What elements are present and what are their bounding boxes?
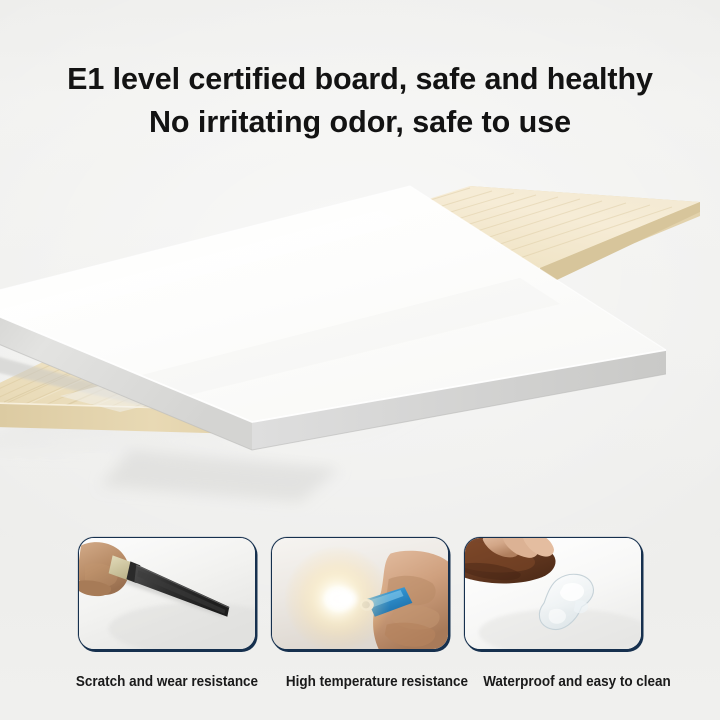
caption-scratch: Scratch and wear resistance (54, 672, 279, 692)
headline-line-1: E1 level certified board, safe and healt… (0, 58, 720, 101)
caption-waterproof: Waterproof and easy to clean (461, 672, 694, 692)
caption-heat: High temperature resistance (264, 672, 489, 692)
feature-panel-heat[interactable] (271, 537, 449, 650)
product-feature-infographic: E1 level certified board, safe and healt… (0, 0, 720, 720)
lighter-flame-image (272, 538, 448, 649)
water-wipe-image (465, 538, 641, 649)
knife-on-board-image (79, 538, 255, 649)
product-scene (0, 150, 720, 530)
feature-panel-waterproof[interactable] (464, 537, 642, 650)
feature-captions: Scratch and wear resistance High tempera… (0, 672, 720, 698)
feature-panels (0, 537, 720, 650)
headline-block: E1 level certified board, safe and healt… (0, 58, 720, 144)
feature-panel-scratch[interactable] (78, 537, 256, 650)
headline-line-2: No irritating odor, safe to use (0, 101, 720, 144)
